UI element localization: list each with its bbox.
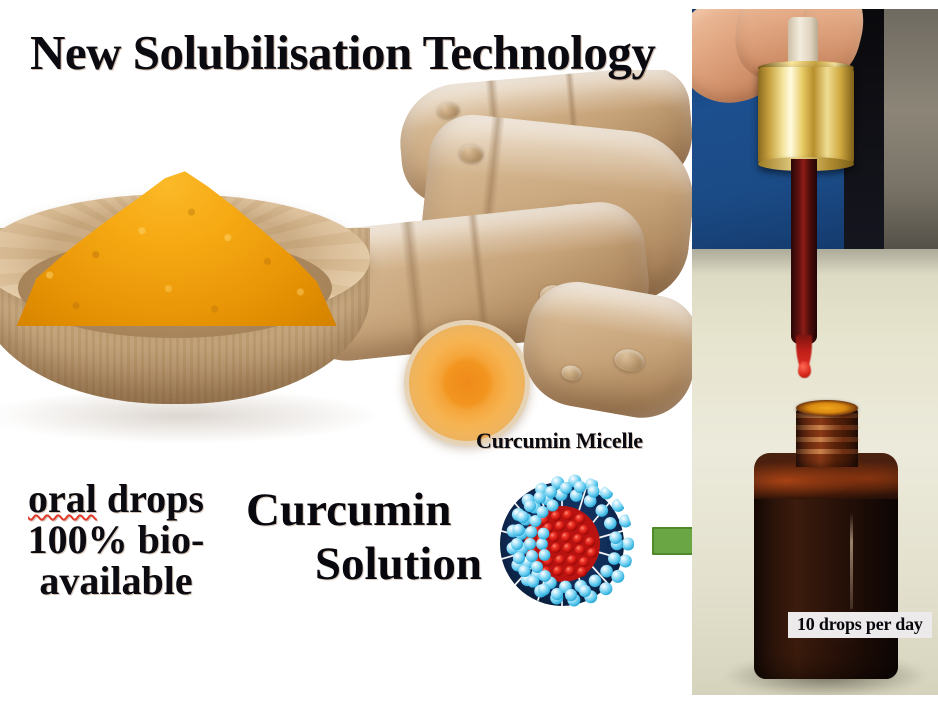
claim-line1-rest: drops xyxy=(97,476,204,521)
root-knob xyxy=(560,364,582,382)
root-ring xyxy=(399,221,429,354)
dropper-bottle-photo: 10 drops per day xyxy=(692,9,938,695)
dropper-gold-cap xyxy=(758,67,854,165)
product-name-line2: Solution xyxy=(246,538,482,592)
root-knob xyxy=(613,347,646,374)
product-name: Curcumin Solution xyxy=(246,484,482,591)
liquid-drop xyxy=(798,361,811,378)
bottle-thread xyxy=(794,449,860,454)
micelle-caption: Curcumin Micelle xyxy=(476,428,643,454)
claim-line2: 100% bio- xyxy=(28,517,205,562)
claim-text: oral drops 100% bio- available xyxy=(0,478,236,602)
dosage-label: 10 drops per day xyxy=(788,612,932,638)
bottle-neck xyxy=(796,407,858,467)
amber-bottle xyxy=(754,407,898,679)
bottle-thread xyxy=(794,437,860,442)
product-name-line1: Curcumin xyxy=(246,484,482,538)
page-title: New Solubilisation Technology xyxy=(30,24,670,81)
dropper-glass-tube xyxy=(791,159,817,344)
bottle-mouth-opening xyxy=(796,400,858,416)
claim-misspelled-word: oral xyxy=(28,476,97,521)
photo-background-wall-strip xyxy=(884,9,938,261)
bottle-thread xyxy=(794,425,860,430)
bottle-highlight xyxy=(850,513,853,609)
curcumin-micelle-diagram xyxy=(486,468,638,620)
poster-canvas: New Solubilisation Technology oral drops… xyxy=(0,0,938,706)
left-panel: New Solubilisation Technology oral drops… xyxy=(0,0,692,706)
root-knob xyxy=(458,143,484,163)
turmeric-root-bottom-right xyxy=(515,274,692,426)
claim-line3: available xyxy=(39,558,192,603)
turmeric-bowl xyxy=(0,166,370,416)
turmeric-photo xyxy=(0,70,692,470)
process-arrow-icon xyxy=(651,512,692,570)
